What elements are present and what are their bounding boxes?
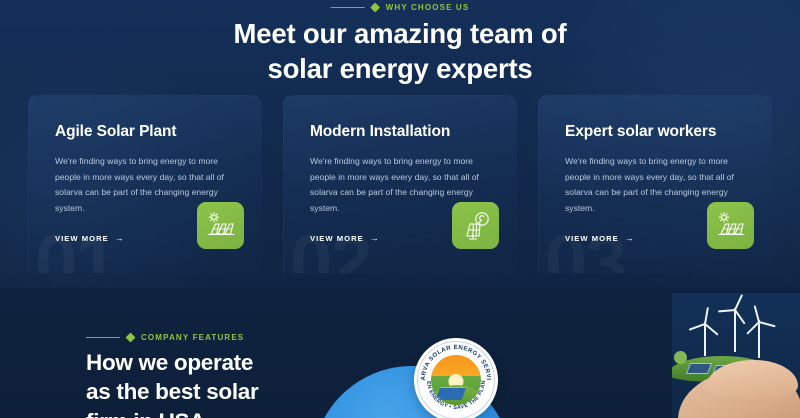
headline-line-1: Meet our amazing team of [234,18,567,49]
sub-headline-line-3: firm in USA [86,409,205,418]
sub-headline-line-2: as the best solar [86,379,258,404]
card-watermark-number: 02 [290,225,371,273]
page-title: Meet our amazing team of solar energy ex… [0,17,800,87]
solar-panel-wrench-icon [452,202,499,249]
sub-headline-line-1: How we operate [86,350,253,375]
headline-line-2: solar energy experts [267,53,532,84]
tree-icon [674,351,687,364]
diamond-icon [370,3,380,13]
card-watermark-number: 01 [35,225,116,273]
feature-card[interactable]: 03 Expert solar workers We're finding wa… [538,95,772,273]
solar-panel-shape [436,387,467,400]
renewable-energy-photo [672,293,800,418]
arrow-right-icon: → [625,234,635,243]
feature-card[interactable]: 01 Agile Solar Plant We're finding ways … [28,95,262,273]
eyebrow-rule [86,337,120,338]
why-choose-us-eyebrow: WHY CHOOSE US [331,3,470,12]
solar-panel-icon [686,363,712,374]
view-more-label: VIEW MORE [565,234,619,243]
card-watermark-number: 03 [545,225,626,273]
view-more-link[interactable]: VIEW MORE → [310,234,380,243]
company-features-eyebrow: COMPANY FEATURES [86,333,244,342]
card-title: Expert solar workers [565,123,750,141]
view-more-link[interactable]: VIEW MORE → [55,234,125,243]
arrow-right-icon: → [115,234,125,243]
page-root: WHY CHOOSE US Meet our amazing team of s… [0,0,800,418]
solarva-seal-badge: SOLARVA SOLAR ENERGY SERVICES GREEN ENER… [414,338,498,418]
view-more-label: VIEW MORE [310,234,364,243]
seal-emblem-icon [431,355,481,405]
eyebrow-rule [331,7,365,8]
view-more-label: VIEW MORE [55,234,109,243]
feature-card-list: 01 Agile Solar Plant We're finding ways … [28,95,772,273]
eyebrow-label: COMPANY FEATURES [141,333,244,342]
solar-panels-sun-icon [197,202,244,249]
feature-card[interactable]: 02 Modern Installation We're finding way… [283,95,517,273]
eyebrow-label: WHY CHOOSE US [386,3,470,12]
solar-panels-sun-icon [707,202,754,249]
view-more-link[interactable]: VIEW MORE → [565,234,635,243]
arrow-right-icon: → [370,234,380,243]
diamond-icon [126,333,136,343]
card-title: Agile Solar Plant [55,123,240,141]
card-title: Modern Installation [310,123,495,141]
